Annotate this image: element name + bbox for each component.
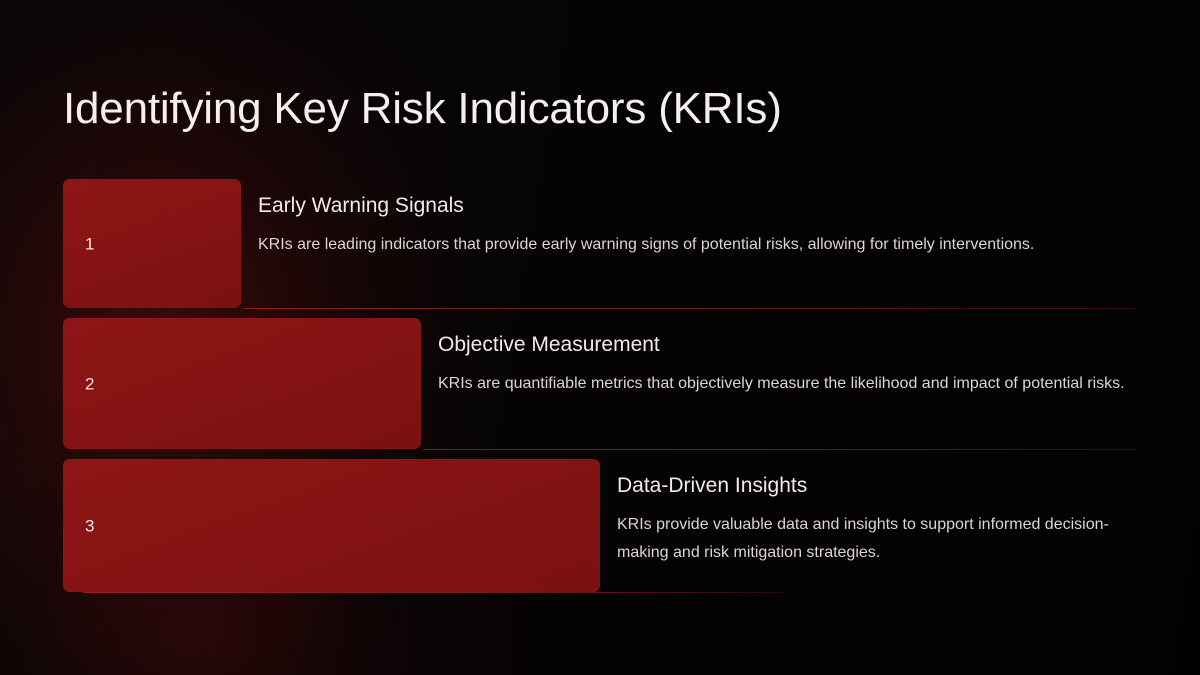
kri-content-3: Data-Driven Insights KRIs provide valuab… bbox=[617, 473, 1137, 567]
kri-body-2: KRIs are quantifiable metrics that objec… bbox=[438, 370, 1138, 398]
kri-bar-2: 2 bbox=[63, 318, 421, 449]
kri-item-1: 1 Early Warning Signals KRIs are leading… bbox=[0, 179, 1200, 308]
kri-content-1: Early Warning Signals KRIs are leading i… bbox=[258, 193, 1138, 259]
kri-item-3: 3 Data-Driven Insights KRIs provide valu… bbox=[0, 459, 1200, 592]
kri-divider-2 bbox=[423, 449, 1136, 450]
slide-canvas: Identifying Key Risk Indicators (KRIs) 1… bbox=[0, 0, 1200, 675]
kri-number-1: 1 bbox=[85, 235, 94, 252]
kri-item-2: 2 Objective Measurement KRIs are quantif… bbox=[0, 318, 1200, 449]
kri-heading-1: Early Warning Signals bbox=[258, 193, 1138, 219]
kri-number-3: 3 bbox=[85, 517, 94, 534]
kri-content-2: Objective Measurement KRIs are quantifia… bbox=[438, 332, 1138, 398]
kri-bar-1: 1 bbox=[63, 179, 241, 308]
kri-divider-1 bbox=[243, 308, 1136, 309]
kri-bar-3: 3 bbox=[63, 459, 600, 592]
page-title: Identifying Key Risk Indicators (KRIs) bbox=[63, 84, 782, 134]
kri-heading-3: Data-Driven Insights bbox=[617, 473, 1137, 499]
kri-divider-3 bbox=[83, 592, 783, 593]
kri-body-1: KRIs are leading indicators that provide… bbox=[258, 231, 1138, 259]
kri-body-3: KRIs provide valuable data and insights … bbox=[617, 511, 1137, 567]
kri-heading-2: Objective Measurement bbox=[438, 332, 1138, 358]
kri-number-2: 2 bbox=[85, 375, 94, 392]
